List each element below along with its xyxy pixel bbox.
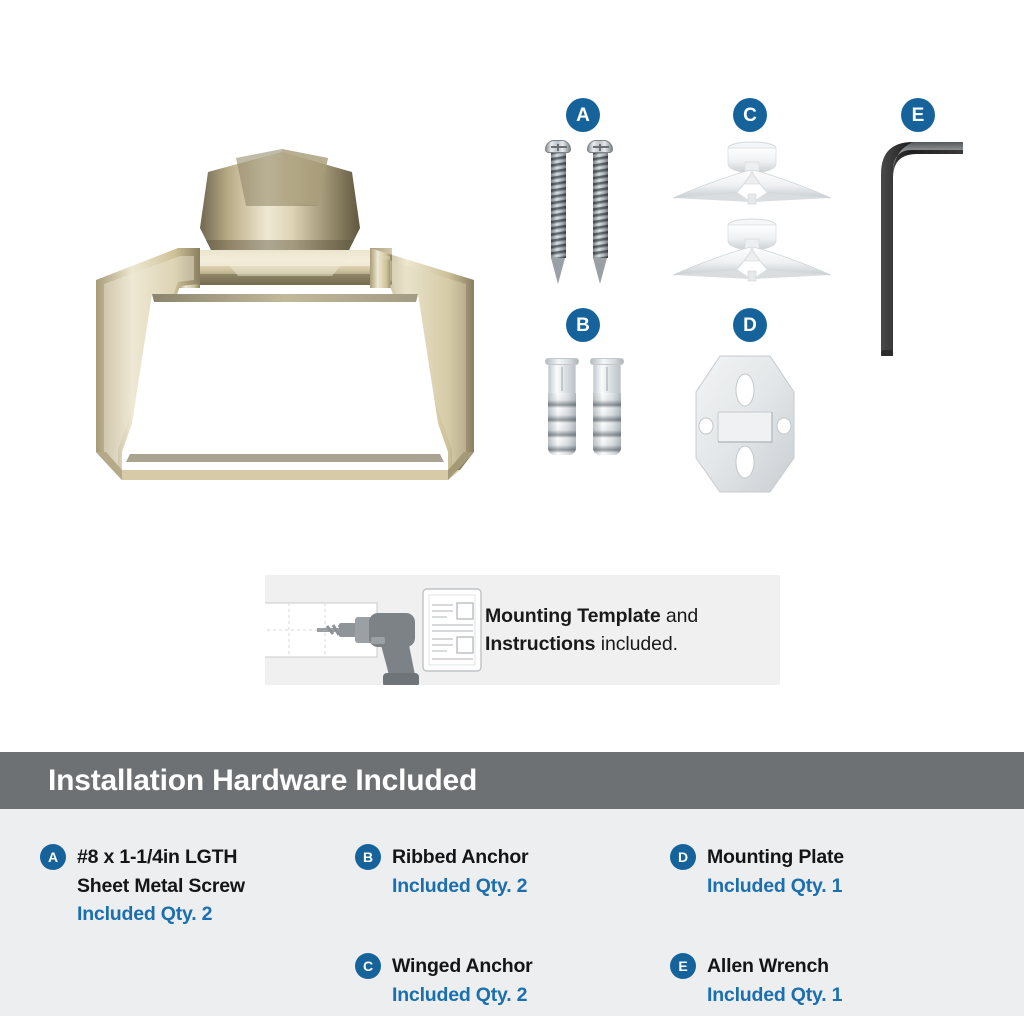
hardware-legend-panel: A #8 x 1-1/4in LGTH Sheet Metal Screw In…	[0, 809, 1024, 1016]
legend-item-a-qty: Included Qty. 2	[77, 900, 360, 929]
legend-item-b-text: Ribbed Anchor Included Qty. 2	[355, 843, 665, 900]
anchor-neck	[548, 365, 576, 393]
mounting-template-banner: Mounting Template and Instructions inclu…	[265, 575, 780, 685]
ribbed-anchor-icon	[545, 358, 579, 455]
mounting-plate-icon	[696, 356, 794, 492]
template-banner-artwork	[265, 575, 485, 685]
legend-item-c: C Winged Anchor Included Qty. 2	[355, 952, 665, 1009]
anchor-collar	[590, 358, 624, 365]
callout-badge-d: D	[733, 308, 767, 342]
legend-item-b-qty: Included Qty. 2	[392, 872, 665, 901]
instructions-label: Instructions	[485, 633, 595, 655]
legend-item-a-text: #8 x 1-1/4in LGTH Sheet Metal Screw Incl…	[40, 843, 360, 929]
legend-item-d-name: Mounting Plate	[707, 843, 990, 872]
mounting-template-suffix: and	[661, 605, 699, 627]
towel-ring-top-bar	[178, 248, 392, 288]
template-banner-line-2: Instructions included.	[485, 630, 698, 658]
legend-item-a: A #8 x 1-1/4in LGTH Sheet Metal Screw In…	[40, 843, 360, 929]
allen-wrench-icon	[881, 142, 963, 356]
legend-item-d: D Mounting Plate Included Qty. 1	[670, 843, 990, 900]
callout-badge-b: B	[566, 308, 600, 342]
hardware-allen-wrench	[865, 128, 975, 363]
product-image-towel-ring	[60, 80, 510, 500]
product-hardware-diagram: A B C D E	[0, 0, 1024, 1024]
callout-badge-a: A	[566, 98, 600, 132]
legend-item-b: B Ribbed Anchor Included Qty. 2	[355, 843, 665, 900]
mounting-template-label: Mounting Template	[485, 605, 661, 627]
legend-item-a-name-line2: Sheet Metal Screw	[77, 872, 360, 901]
towel-ring-wall-mount	[200, 149, 360, 252]
callout-badge-c: C	[733, 98, 767, 132]
screw-shank	[551, 153, 566, 258]
legend-badge-b: B	[355, 844, 381, 870]
installation-hardware-header: Installation Hardware Included	[0, 752, 1024, 809]
template-banner-text: Mounting Template and Instructions inclu…	[485, 602, 698, 659]
legend-column-2: B Ribbed Anchor Included Qty. 2 C Winged…	[355, 843, 665, 1036]
ribbed-anchor-icon	[590, 358, 624, 455]
mounting-plate-svg	[690, 352, 800, 497]
towel-ring-svg	[60, 80, 510, 500]
legend-badge-d: D	[670, 844, 696, 870]
legend-item-d-qty: Included Qty. 1	[707, 872, 990, 901]
drill-and-template-svg	[265, 575, 485, 685]
callout-badge-e: E	[901, 98, 935, 132]
winged-anchor-icon	[673, 219, 831, 281]
anchor-ribbed-body	[593, 393, 621, 455]
screw-head	[587, 140, 613, 153]
legend-column-1: A #8 x 1-1/4in LGTH Sheet Metal Screw In…	[40, 843, 360, 955]
legend-item-c-qty: Included Qty. 2	[392, 981, 665, 1010]
legend-item-d-text: Mounting Plate Included Qty. 1	[670, 843, 990, 900]
hardware-winged-anchors	[665, 140, 840, 290]
screw-icon	[545, 140, 571, 284]
legend-item-c-name: Winged Anchor	[392, 952, 665, 981]
screw-tip	[593, 258, 607, 284]
template-banner-line-1: Mounting Template and	[485, 602, 698, 630]
screw-tip	[551, 258, 565, 284]
legend-badge-a: A	[40, 844, 66, 870]
anchor-neck	[593, 365, 621, 393]
anchor-ribbed-body	[548, 393, 576, 455]
legend-item-e-text: Allen Wrench Included Qty. 1	[670, 952, 990, 1009]
hardware-mounting-plate	[690, 352, 800, 502]
legend-item-e-name: Allen Wrench	[707, 952, 990, 981]
screw-head	[545, 140, 571, 153]
screw-shank	[593, 153, 608, 258]
winged-anchor-icon	[673, 142, 831, 204]
screw-icon	[587, 140, 613, 284]
winged-anchor-svg	[665, 140, 840, 285]
allen-wrench-svg	[865, 128, 975, 358]
legend-item-a-name-line1: #8 x 1-1/4in LGTH	[77, 843, 360, 872]
legend-column-3: D Mounting Plate Included Qty. 1 E Allen…	[670, 843, 990, 1036]
page-title: Installation Hardware Included	[48, 764, 477, 798]
instruction-sheet-icon	[423, 589, 481, 671]
legend-item-e-qty: Included Qty. 1	[707, 981, 990, 1010]
legend-item-e: E Allen Wrench Included Qty. 1	[670, 952, 990, 1009]
legend-item-c-text: Winged Anchor Included Qty. 2	[355, 952, 665, 1009]
instructions-suffix: included.	[595, 633, 677, 655]
anchor-collar	[545, 358, 579, 365]
legend-item-b-name: Ribbed Anchor	[392, 843, 665, 872]
